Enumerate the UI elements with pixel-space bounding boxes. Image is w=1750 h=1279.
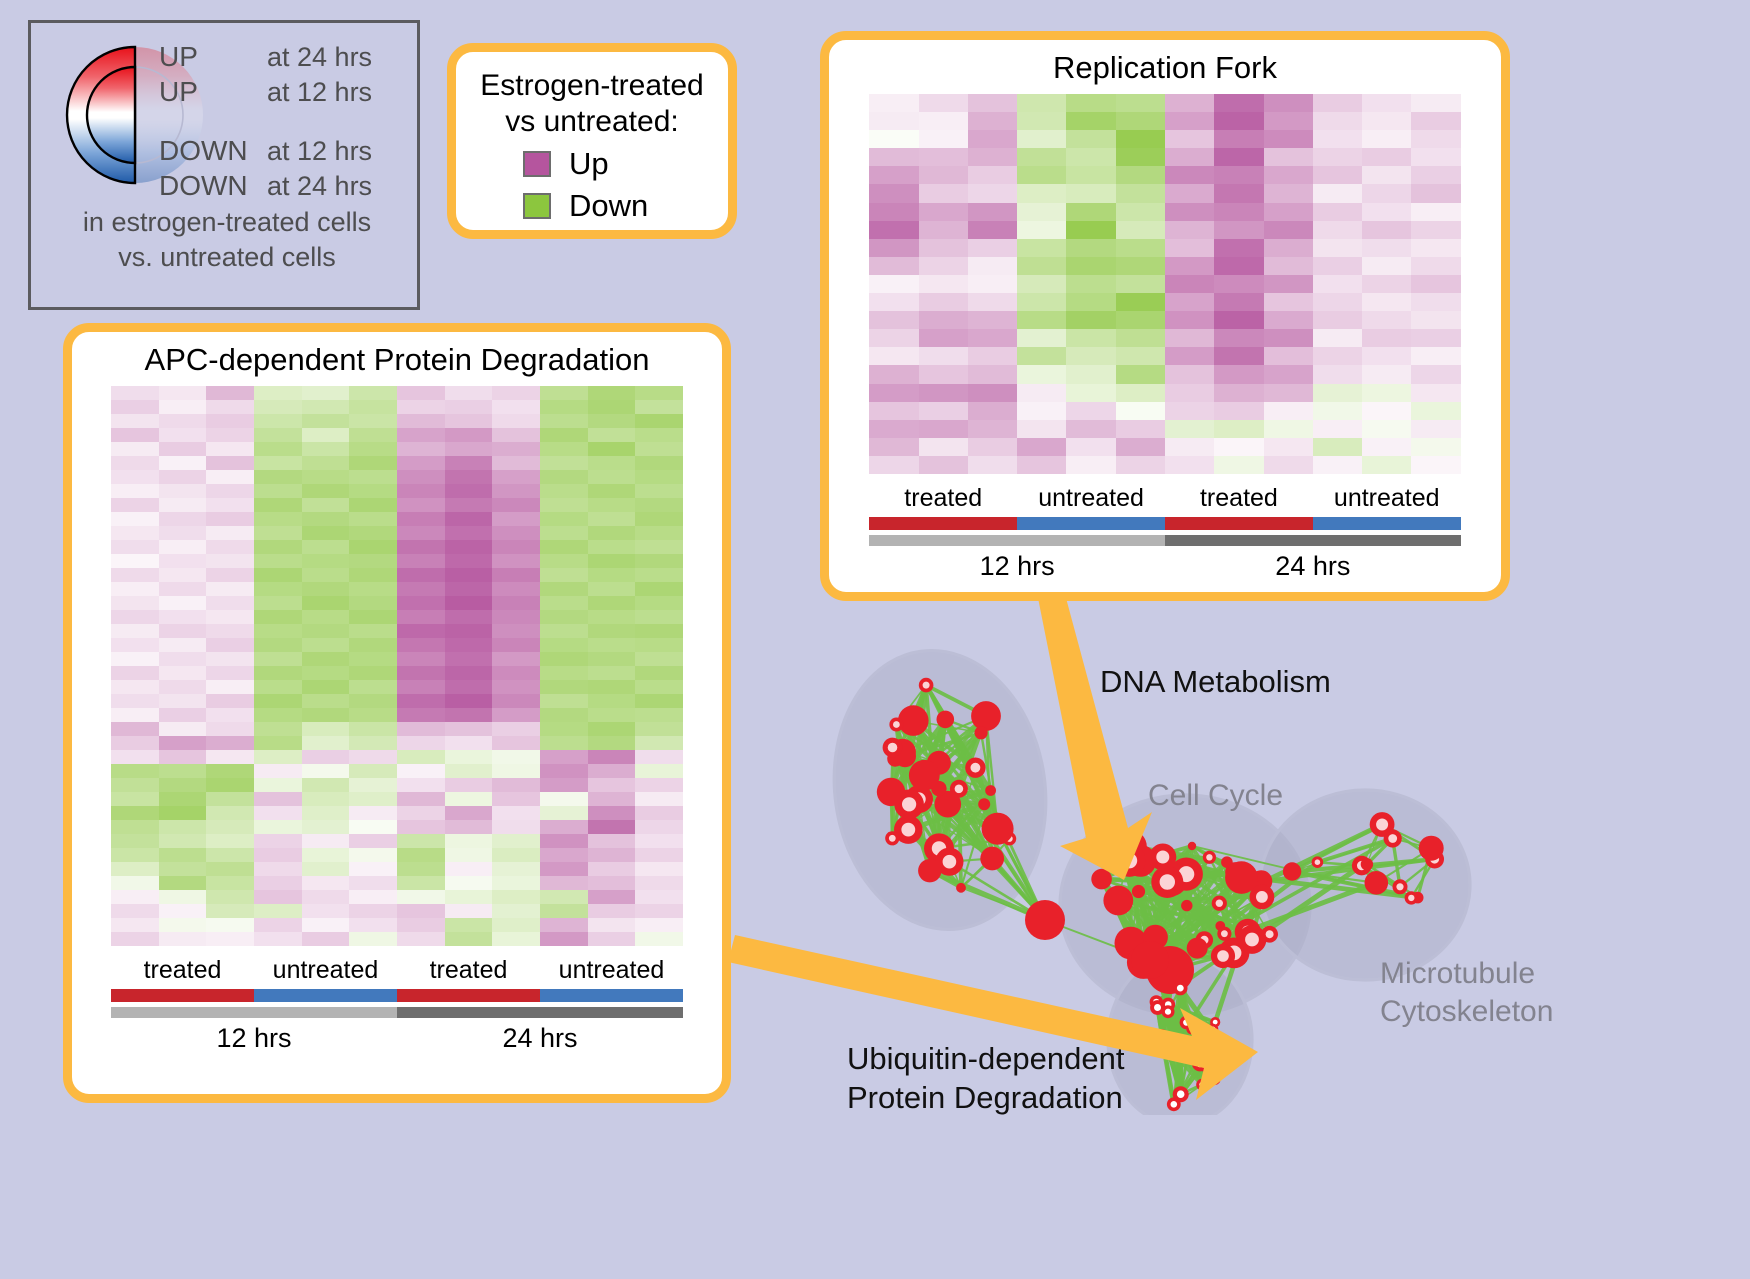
heatmap-cell: [635, 568, 683, 582]
heatmap-cell: [302, 512, 350, 526]
heatmap-cell: [1264, 384, 1313, 402]
heatmap-cell: [1264, 420, 1313, 438]
group-label: untreated: [540, 956, 683, 985]
network-node[interactable]: [918, 859, 941, 882]
heatmap-cell: [206, 848, 254, 862]
heatmap-cell: [206, 778, 254, 792]
network-node[interactable]: [1361, 858, 1373, 870]
heatmap-cell: [869, 203, 918, 221]
heatmap-cell: [1017, 365, 1066, 383]
heatmap-cell: [1066, 293, 1115, 311]
heatmap-cell: [968, 311, 1017, 329]
updown-title-line-1: Estrogen-treated: [456, 68, 728, 104]
timepoint-label-row: 12 hrs24 hrs: [111, 1018, 683, 1054]
network-node-core: [923, 682, 930, 689]
network-node-core: [1266, 930, 1274, 938]
network-node-core: [1210, 1027, 1215, 1032]
heatmap-cell: [635, 848, 683, 862]
heatmap-cell: [445, 456, 493, 470]
heatmap-cell: [1116, 112, 1165, 130]
ring-row-value: at 12 hrs: [267, 77, 372, 108]
heatmap-cell: [1411, 148, 1460, 166]
heatmap-cell: [1411, 130, 1460, 148]
heatmap-cell: [397, 778, 445, 792]
heatmap-cell: [254, 918, 302, 932]
heatmap-cell: [111, 582, 159, 596]
heatmap-cell: [492, 526, 540, 540]
heatmap-cell: [206, 442, 254, 456]
heatmap-cell: [445, 582, 493, 596]
heatmap-cell: [159, 498, 207, 512]
heatmap-cell: [1214, 203, 1263, 221]
heatmap-cell: [206, 876, 254, 890]
heatmap-cell: [159, 568, 207, 582]
heatmap-cell: [540, 554, 588, 568]
heatmap-cell: [302, 694, 350, 708]
network-node[interactable]: [1283, 862, 1301, 880]
heatmap-cell: [635, 498, 683, 512]
heatmap-cell: [397, 610, 445, 624]
heatmap-cell: [302, 442, 350, 456]
heatmap-cell: [254, 778, 302, 792]
heatmap-cell: [445, 540, 493, 554]
heatmap-cell: [111, 386, 159, 400]
heatmap-cell: [1362, 203, 1411, 221]
heatmap-cell: [1017, 420, 1066, 438]
heatmap-cell: [111, 876, 159, 890]
heatmap-cell: [111, 652, 159, 666]
heatmap-cell: [1066, 438, 1115, 456]
heatmap-cell: [968, 275, 1017, 293]
heatmap-cell: [492, 414, 540, 428]
network-node[interactable]: [1188, 842, 1196, 850]
heatmap-cell: [159, 806, 207, 820]
network-node-core: [1171, 1101, 1178, 1108]
heatmap-cell: [302, 918, 350, 932]
ring-row-value: at 24 hrs: [267, 42, 372, 73]
network-node-core: [1315, 859, 1321, 865]
heatmap-cell: [349, 540, 397, 554]
heatmap-cell: [159, 708, 207, 722]
heatmap-cell: [635, 582, 683, 596]
heatmap-cell: [540, 918, 588, 932]
network-node[interactable]: [1225, 861, 1258, 894]
heatmap-cell: [540, 736, 588, 750]
heatmap-cell: [588, 414, 636, 428]
heatmap-cell: [492, 792, 540, 806]
heatmap-cell: [349, 582, 397, 596]
heatmap-cell: [492, 596, 540, 610]
heatmap-cell: [159, 736, 207, 750]
heatmap-cell: [111, 918, 159, 932]
heatmap-cell: [445, 848, 493, 862]
treatment-color-bar: [540, 989, 683, 1002]
heatmap-cell: [397, 736, 445, 750]
heatmap-cell: [1214, 365, 1263, 383]
heatmap-cell: [1116, 203, 1165, 221]
heatmap-cell: [206, 386, 254, 400]
heatmap-cell: [445, 862, 493, 876]
heatmap-cell: [1313, 384, 1362, 402]
network-node[interactable]: [978, 798, 990, 810]
heatmap-cell: [588, 428, 636, 442]
cluster-label-dna-metabolism: DNA Metabolism: [1100, 664, 1331, 700]
heatmap-cell: [492, 834, 540, 848]
timepoint-color-bar-row: [111, 1007, 683, 1018]
network-node[interactable]: [1419, 836, 1444, 861]
heatmap-cell: [1313, 402, 1362, 420]
network-node[interactable]: [898, 705, 929, 736]
heatmap-cell: [1411, 329, 1460, 347]
heatmap-cell: [1066, 347, 1115, 365]
ring-legend-rows: UP at 24 hrs UP at 12 hrs DOWN at 12 hrs…: [159, 41, 419, 205]
heatmap-cell: [1214, 275, 1263, 293]
heatmap-cell: [635, 540, 683, 554]
heatmap-cell: [1214, 112, 1263, 130]
heatmap-cell: [349, 736, 397, 750]
heatmap-cell: [1017, 257, 1066, 275]
heatmap-cell: [159, 610, 207, 624]
heatmap-cell: [159, 638, 207, 652]
heatmap-cell: [111, 414, 159, 428]
heatmap-cell: [635, 484, 683, 498]
group-label-row: treateduntreatedtreateduntreated: [869, 484, 1460, 513]
heatmap-cell: [206, 834, 254, 848]
heatmap-cell: [1066, 456, 1115, 474]
heatmap-cell: [111, 680, 159, 694]
heatmap-cell: [206, 512, 254, 526]
heatmap-cell: [1165, 438, 1214, 456]
heatmap-cell: [1116, 184, 1165, 202]
heatmap-cell: [869, 311, 918, 329]
heatmap-cell: [540, 792, 588, 806]
heatmap-cell: [1362, 329, 1411, 347]
heatmap-cell: [111, 764, 159, 778]
network-node-core: [1156, 851, 1169, 864]
network-node[interactable]: [1365, 871, 1389, 895]
network-node[interactable]: [985, 785, 996, 796]
heatmap-cell: [1411, 221, 1460, 239]
ring-row-key: UP: [159, 41, 267, 73]
heatmap-cell: [349, 862, 397, 876]
heatmap-cell: [635, 456, 683, 470]
heatmap-cell: [1066, 184, 1115, 202]
heatmap-cell: [588, 624, 636, 638]
heatmap-cell: [492, 456, 540, 470]
heatmap-cell: [206, 610, 254, 624]
heatmap-cell: [869, 166, 918, 184]
heatmap-cell: [1264, 257, 1313, 275]
heatmap-cell: [302, 582, 350, 596]
heatmap-cell: [540, 624, 588, 638]
network-node[interactable]: [975, 726, 988, 739]
heatmap-cell: [919, 239, 968, 257]
heatmap-cell: [254, 624, 302, 638]
network-node[interactable]: [1131, 941, 1169, 979]
heatmap-cell: [206, 568, 254, 582]
heatmap-cell: [1066, 166, 1115, 184]
down-label: Down: [569, 188, 661, 224]
heatmap-cell: [1214, 420, 1263, 438]
heatmap-cell: [1165, 293, 1214, 311]
network-node[interactable]: [1132, 885, 1145, 898]
heatmap-cell: [1165, 148, 1214, 166]
heatmap-cell: [302, 792, 350, 806]
heatmap-cell: [111, 736, 159, 750]
network-node[interactable]: [1181, 900, 1192, 911]
heatmap-cell: [588, 918, 636, 932]
heatmap-cell: [302, 414, 350, 428]
heatmap-cell: [588, 610, 636, 624]
heatmap-cell: [588, 554, 636, 568]
heatmap-cell: [397, 428, 445, 442]
treatment-color-bar: [1313, 517, 1461, 530]
heatmap-cell: [1264, 94, 1313, 112]
heatmap-cell: [349, 456, 397, 470]
group-label: untreated: [1313, 484, 1461, 513]
heatmap-cell: [111, 540, 159, 554]
heatmap-cell: [1362, 130, 1411, 148]
heatmap-cell: [1017, 275, 1066, 293]
network-node-core: [1245, 933, 1259, 947]
heatmap-cell: [1313, 329, 1362, 347]
heatmap-cell: [302, 778, 350, 792]
heatmap-cell: [111, 624, 159, 638]
heatmap-cell: [302, 750, 350, 764]
heatmap-cell: [111, 820, 159, 834]
heatmap-cell: [206, 694, 254, 708]
heatmap-cell: [1066, 112, 1115, 130]
heatmap-cell: [1264, 130, 1313, 148]
heatmap-cell: [159, 414, 207, 428]
cluster-label-cell-cycle: Cell Cycle: [1148, 779, 1283, 813]
heatmap-cell: [254, 680, 302, 694]
network-node[interactable]: [1025, 900, 1065, 940]
heatmap-cell: [635, 750, 683, 764]
heatmap-cell: [445, 498, 493, 512]
heatmap-cell: [588, 848, 636, 862]
heatmap-cell: [302, 484, 350, 498]
heatmap-cell: [492, 428, 540, 442]
heatmap-cell: [1214, 94, 1263, 112]
heatmap-cell: [540, 932, 588, 946]
heatmap-cell: [635, 386, 683, 400]
network-node[interactable]: [971, 701, 1001, 731]
heatmap-cell: [111, 778, 159, 792]
heatmap-cell: [254, 736, 302, 750]
heatmap-cell: [492, 848, 540, 862]
heatmap-cell: [492, 778, 540, 792]
heatmap-cell: [635, 652, 683, 666]
heatmap-cell: [540, 596, 588, 610]
heatmap-cell: [588, 736, 636, 750]
network-node-core: [1199, 1082, 1205, 1088]
heatmap-cell: [349, 806, 397, 820]
heatmap-cell: [588, 666, 636, 680]
heatmap-cell: [254, 568, 302, 582]
heatmap-cell: [1165, 112, 1214, 130]
heatmap-cell: [1313, 438, 1362, 456]
heatmap-cell: [159, 400, 207, 414]
ring-row-key: DOWN: [159, 170, 267, 202]
timepoint-label: 24 hrs: [1165, 546, 1461, 582]
heatmap-cell: [302, 890, 350, 904]
heatmap-cell: [397, 932, 445, 946]
heatmap-cell: [1165, 402, 1214, 420]
group-label-row: treateduntreatedtreateduntreated: [111, 956, 683, 985]
heatmap-cell: [1411, 112, 1460, 130]
heatmap-cell: [206, 932, 254, 946]
heatmap-cell: [397, 722, 445, 736]
heatmap-cell: [1165, 456, 1214, 474]
heatmap-cell: [1116, 166, 1165, 184]
heatmap-cell: [968, 166, 1017, 184]
heatmap-cell: [254, 540, 302, 554]
heatmap-cell: [349, 890, 397, 904]
heatmap-cell: [397, 652, 445, 666]
heatmap-cell: [588, 708, 636, 722]
heatmap-cell: [349, 610, 397, 624]
heatmap-cell: [635, 918, 683, 932]
heatmap-cell: [349, 764, 397, 778]
heatmap-cell: [1313, 275, 1362, 293]
heatmap-cell: [159, 778, 207, 792]
heatmap-cell: [919, 275, 968, 293]
heatmap-cell: [1017, 311, 1066, 329]
heatmap-cell: [919, 130, 968, 148]
network-node[interactable]: [982, 813, 1014, 845]
heatmap-cell: [1411, 456, 1460, 474]
network-node-core: [901, 823, 915, 837]
heatmap-cell: [492, 764, 540, 778]
heatmap-cell: [1264, 347, 1313, 365]
heatmap-cell: [302, 764, 350, 778]
heatmap-cell: [206, 414, 254, 428]
heatmap-cell: [919, 203, 968, 221]
heatmap-cell: [1214, 148, 1263, 166]
heatmap-cell: [635, 932, 683, 946]
heatmap-cell: [492, 554, 540, 568]
heatmap-cell: [1264, 221, 1313, 239]
heatmap-cell: [1165, 347, 1214, 365]
heatmap-cell: [111, 400, 159, 414]
heatmap-cell: [397, 624, 445, 638]
heatmap-cell: [919, 384, 968, 402]
heatmap-cell: [349, 568, 397, 582]
heatmap-cell: [159, 680, 207, 694]
network-node-core: [971, 763, 981, 773]
heatmap-cell: [397, 904, 445, 918]
heatmap-cell: [1017, 329, 1066, 347]
heatmap-cell: [492, 820, 540, 834]
network-node[interactable]: [909, 760, 940, 791]
network-node[interactable]: [1091, 869, 1112, 890]
heatmap-cell: [540, 890, 588, 904]
heatmap-cell: [919, 94, 968, 112]
heatmap-cell: [1165, 311, 1214, 329]
heatmap-cell: [445, 596, 493, 610]
treatment-color-bar: [397, 989, 540, 1002]
heatmap-cell: [445, 554, 493, 568]
heatmap-cell: [159, 540, 207, 554]
heatmap-cell: [540, 834, 588, 848]
heatmap-cell: [159, 512, 207, 526]
heatmap-cell: [445, 694, 493, 708]
heatmap-cell: [445, 526, 493, 540]
heatmap-cell: [1362, 184, 1411, 202]
network-node[interactable]: [937, 711, 955, 729]
treatment-color-bar: [254, 989, 397, 1002]
heatmap-cell: [445, 680, 493, 694]
heatmap-cell: [1017, 293, 1066, 311]
heatmap-cell: [111, 666, 159, 680]
network-node[interactable]: [980, 847, 1004, 871]
heatmap-cell: [254, 596, 302, 610]
heatmap-cell: [540, 652, 588, 666]
heatmap-cell: [635, 554, 683, 568]
heatmap-cell: [1313, 347, 1362, 365]
heatmap-cell: [1214, 384, 1263, 402]
network-node-core: [1256, 891, 1268, 903]
heatmap-cell: [1411, 257, 1460, 275]
heatmap-cell: [1362, 365, 1411, 383]
heatmap-cell: [254, 526, 302, 540]
heatmap-cell: [349, 428, 397, 442]
network-node[interactable]: [1187, 938, 1208, 959]
heatmap-cell: [397, 876, 445, 890]
group-label: treated: [869, 484, 1017, 513]
heatmap-cell: [254, 582, 302, 596]
heatmap-cell: [1116, 257, 1165, 275]
heatmap-cell: [919, 112, 968, 130]
heatmap-cell: [397, 414, 445, 428]
heatmap-cell: [1066, 239, 1115, 257]
heatmap-cell: [445, 736, 493, 750]
heatmap-cell: [492, 568, 540, 582]
heatmap-cell: [635, 876, 683, 890]
heatmap-cell: [1264, 184, 1313, 202]
heatmap-cell: [397, 512, 445, 526]
heatmap-cell: [445, 638, 493, 652]
heatmap-cell: [445, 624, 493, 638]
heatmap-cell: [302, 428, 350, 442]
heatmap-cell: [1411, 184, 1460, 202]
heatmap-cell: [397, 680, 445, 694]
heatmap-cell: [1264, 239, 1313, 257]
network-node[interactable]: [1103, 886, 1133, 916]
network-node[interactable]: [877, 778, 905, 806]
heatmap-cell: [1362, 384, 1411, 402]
heatmap-cell: [349, 498, 397, 512]
heatmap-cell: [1116, 239, 1165, 257]
footer-line-2: vs. untreated cells: [31, 240, 423, 275]
heatmap-cell: [635, 624, 683, 638]
heatmap-cell: [919, 347, 968, 365]
heatmap-cell: [540, 638, 588, 652]
heatmap-cell: [1264, 329, 1313, 347]
heatmap-cell: [540, 414, 588, 428]
network-node[interactable]: [956, 883, 966, 893]
heatmap-cell: [206, 890, 254, 904]
network-node-core: [1396, 883, 1403, 890]
heatmap-cell: [445, 750, 493, 764]
heatmap-cell: [1362, 456, 1411, 474]
network-node-core: [1388, 834, 1397, 843]
heatmap-cell: [1017, 203, 1066, 221]
heatmap-cell: [111, 484, 159, 498]
heatmap-cell: [159, 862, 207, 876]
heatmap-cell: [1264, 112, 1313, 130]
